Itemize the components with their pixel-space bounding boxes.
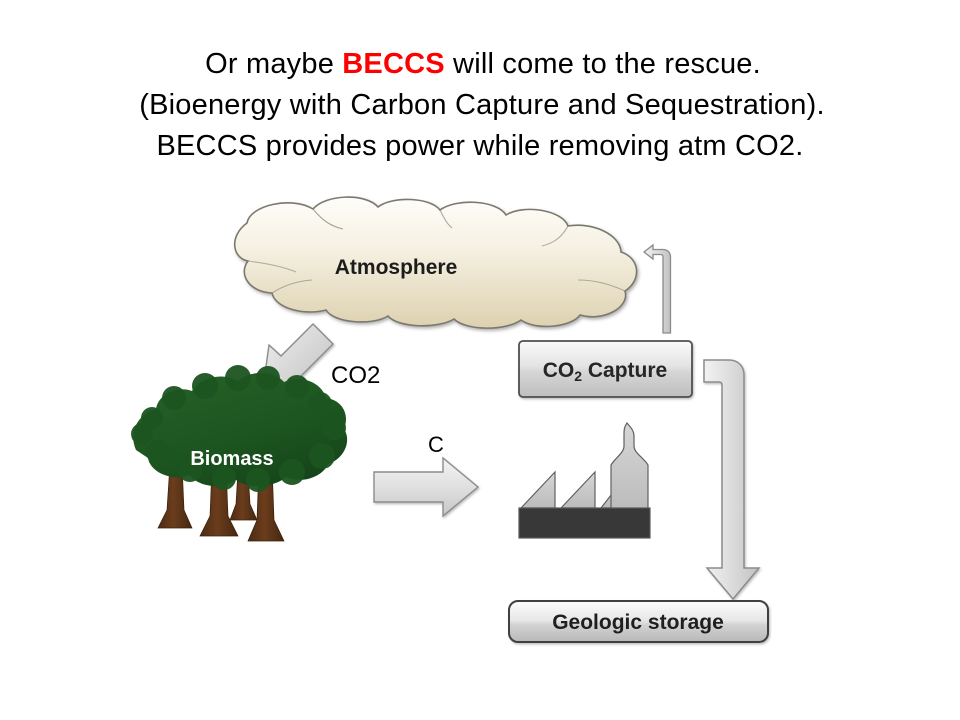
arrow-capture-to-atmosphere [644,245,671,333]
factory-chimney [611,423,648,509]
co2-label: CO2 [331,362,380,389]
arrow-biomass-to-power-plant [374,458,478,516]
factory-body [519,508,650,538]
bent-block-arrow-shape [704,360,759,599]
co2-capture-label: CO2 Capture [543,359,667,384]
atmosphere-label: Atmosphere [335,256,458,279]
node-geologic-storage: Geologic storage [509,601,768,642]
thin-bent-arrow-shape [644,245,671,333]
co2-capture-label-sub: 2 [574,368,582,384]
node-atmosphere: Atmosphere [235,197,637,328]
node-power-plant [519,423,650,538]
geologic-storage-label: Geologic storage [552,611,724,634]
c-label: C [428,432,444,457]
node-biomass: Biomass [131,365,347,541]
co2-capture-label-tail: Capture [582,359,667,382]
biomass-label: Biomass [190,448,273,470]
arrow-right-shape [374,458,478,516]
node-co2-capture: CO2 Capture [519,341,692,397]
factory-roof-1 [521,472,555,508]
beccs-process-diagram: Atmosphere CO2 [0,0,960,720]
slide-canvas: Or maybe BECCS will come to the rescue. … [0,0,960,720]
arrow-capture-to-geologic-storage [704,360,759,599]
factory-roof-2 [561,472,595,508]
co2-capture-label-main: CO [543,359,575,382]
